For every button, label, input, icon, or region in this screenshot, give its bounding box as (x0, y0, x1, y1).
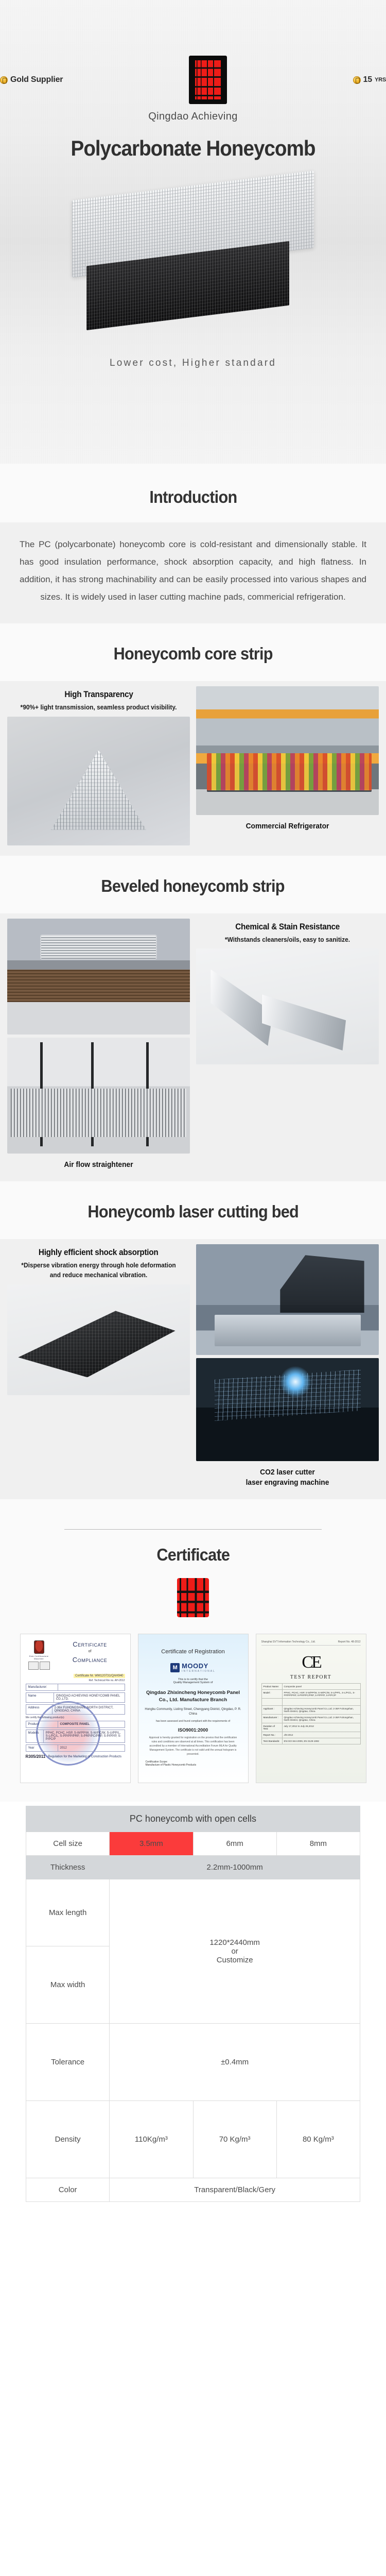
gold-coin-icon (0, 76, 8, 84)
cell-size-option-1[interactable]: 3.5mm (110, 1832, 193, 1856)
max-dims-line1: 1220*2440mm (112, 1938, 358, 1947)
feature-subtitle: *Withstands cleaners/oils, easy to sanit… (205, 935, 370, 945)
air-curtain-photo (7, 919, 190, 1035)
cert3-r0-value: Composite panel (282, 1684, 360, 1690)
cert1-certify-line: We certify the following product(s) (26, 1716, 125, 1719)
laser-machine-photo (196, 1244, 379, 1355)
cert1-row5-value: 2012 (58, 1745, 69, 1751)
cert2-scope: Manufacture of Plastic Honeycomb Product… (144, 1764, 243, 1767)
cert1-issuer: Ente Certificazione Macchine (26, 1655, 52, 1660)
feature-title: High Transparency (64, 689, 133, 700)
cert3-r7-label: Test Standards: (261, 1738, 282, 1744)
cert3-r1-label: Model : (261, 1690, 282, 1699)
ce-test-report-image[interactable]: Shanghai SVT Information Technology Co.,… (256, 1634, 366, 1783)
panel-column-left: Air flow straightener (7, 919, 190, 1171)
company-name: Qingdao Achieving (0, 111, 386, 123)
cert1-row4-label: Model/s (26, 1730, 44, 1742)
section-title: Honeycomb core strip (113, 644, 272, 664)
table-row-color: Color Transparent/Black/Gery (26, 2178, 360, 2202)
cert3-r6-value: J/8-2012 (282, 1732, 360, 1738)
cert1-row3-value: COMPOSITE PANEL (58, 1721, 92, 1727)
cert3-r4-label: Manufacturer : (261, 1715, 282, 1723)
cell-size-option-2[interactable]: 6mm (193, 1832, 276, 1856)
black-honeycomb-block-photo (7, 1284, 190, 1395)
panel-column-right: Commercial Refrigerator (196, 686, 379, 845)
introduction-paragraph: The PC (polycarbonate) honeycomb core is… (20, 536, 366, 606)
cert3-r3-label: Applicant : (261, 1706, 282, 1715)
company-seal-logo (189, 56, 227, 104)
cert2-address: Hongbu Community, Liuting Street, Chengy… (144, 1707, 243, 1717)
cert1-no: WM120731/QAH940 (95, 1674, 123, 1677)
density-value-1: 110Kg/m³ (110, 2101, 193, 2178)
years-number: 15 (363, 75, 372, 84)
cert1-footer-text: Regulation for the Marketing of Construc… (48, 1755, 121, 1758)
row-value-tolerance: ±0.4mm (110, 2024, 360, 2101)
gold-supplier-badge: Gold Supplier (0, 75, 63, 84)
cert3-r6-label: Report No.: (261, 1732, 282, 1738)
cert3-r2-value (282, 1699, 360, 1706)
feature-text-block: Chemical & Stain Resistance *Withstands … (196, 919, 379, 949)
hero-banner: Gold Supplier 15YRS Qingdao Achieving Po… (0, 0, 386, 464)
density-value-3: 80 Kg/m³ (276, 2101, 360, 2178)
introduction-body: The PC (polycarbonate) honeycomb core is… (0, 522, 386, 623)
cert2-intro2: Quality Management System of (144, 1681, 243, 1684)
introduction-heading-block: Introduction (0, 464, 386, 522)
cert3-r5-value: July 17,2012 to July 26,2012 (282, 1723, 360, 1732)
cert1-title-line2: Compliance (55, 1656, 125, 1664)
cert1-ref: Ref. Technical File no. AH-2012 (26, 1679, 125, 1682)
specification-table-wrapper: PC honeycomb with open cells Cell size 3… (0, 1802, 386, 2233)
cert2-standard: ISO9001:2000 (144, 1727, 243, 1733)
row-label-color: Color (26, 2178, 110, 2202)
section-panel-beveled-honeycomb-strip: Air flow straightener Chemical & Stain R… (0, 913, 386, 1181)
max-dims-line2: or (112, 1947, 358, 1956)
cert1-title-line1: Certificate (55, 1640, 125, 1648)
cert2-brand-sub: INTERNATIONAL (182, 1670, 216, 1673)
certificate-gallery: Ente Certificazione Macchine Certificate… (0, 1617, 386, 1802)
cert2-brand: MOODY (182, 1662, 216, 1670)
feature-subtitle: *90%+ light transmission, seamless produ… (16, 702, 181, 713)
cert1-no-label: Certificate Nr. (75, 1674, 94, 1677)
row-label-thickness: Thickness (26, 1856, 110, 1879)
certificate-title: Certificate (156, 1545, 230, 1565)
row-label-max-width: Max width (26, 1946, 110, 2024)
feature-title: Highly efficient shock absorption (39, 1247, 159, 1258)
cert3-r5-label: Duration of Test: (261, 1723, 282, 1732)
hero-tagline: Lower cost, Higher standard (0, 336, 386, 369)
panel-column-left: Highly efficient shock absorption *Dispe… (7, 1244, 190, 1489)
cert3-r3-value: Qingdao Achieving Honeycomb Panel Co.,Lt… (282, 1706, 360, 1715)
section-title: Beveled honeycomb strip (101, 876, 285, 896)
max-dims-line3: Customize (112, 1956, 358, 1964)
feature-text-block: Highly efficient shock absorption *Dispe… (7, 1244, 190, 1284)
cert3-r1-value: PPHC, PCHC, HSP, S-W/PP/W, S-W/PC/W, S-U… (282, 1690, 360, 1699)
introduction-title: Introduction (149, 487, 237, 507)
section-panel-honeycomb-laser-cutting-bed: Highly efficient shock absorption *Dispe… (0, 1239, 386, 1500)
cert3-r2-label (261, 1699, 282, 1706)
table-row-tolerance: Tolerance ±0.4mm (26, 2024, 360, 2101)
spec-table-header: PC honeycomb with open cells (26, 1806, 360, 1832)
section-heading-honeycomb-core-strip: Honeycomb core strip (0, 623, 386, 681)
cert1-footer-code: R305/2011 (26, 1754, 46, 1759)
cert2-company: Qingdao Zhixincheng Honeycomb Panel Co.,… (144, 1689, 243, 1704)
section-heading-beveled-honeycomb-strip: Beveled honeycomb strip (0, 856, 386, 913)
photo-caption-line2: laser engraving machine (205, 1478, 370, 1488)
cert1-row2-label: Address (26, 1705, 52, 1714)
row-value-thickness: 2.2mm-1000mm (110, 1856, 360, 1879)
photo-caption: Air flow straightener (14, 1154, 183, 1171)
certificate-section: Certificate Ente Certificazione Macchine… (0, 1499, 386, 1802)
gold-coin-icon (353, 76, 361, 84)
table-row-density: Density 110Kg/m³ 70 Kg/m³ 80 Kg/m³ (26, 2101, 360, 2178)
company-seal-icon (177, 1578, 209, 1617)
ce-mark-icon: CE (261, 1653, 361, 1672)
seal-ink-art (195, 60, 221, 99)
row-value-max-dimensions: 1220*2440mm or Customize (110, 1879, 360, 2024)
row-label-max-length: Max length (26, 1879, 110, 1946)
cert2-fine-print: Approval is hereby granted for registrat… (144, 1736, 243, 1756)
honeycomb-transparent-photo (7, 717, 190, 845)
table-header-row: PC honeycomb with open cells (26, 1806, 360, 1832)
cert1-row1-value: QINGDAO ACHIEVING HONEYCOMB PANEL CO.,LT… (54, 1693, 125, 1702)
cert1-row1-label: Name (26, 1693, 54, 1702)
cert1-row4-value: PPHC, PCHC, HSP, S-W/PP/W, S-W/PC/W, S-U… (44, 1730, 125, 1742)
commercial-refrigerator-photo (196, 686, 379, 815)
row-label-tolerance: Tolerance (26, 2024, 110, 2101)
certificate-of-registration-image[interactable]: Certificate of Registration M MOODY INTE… (138, 1634, 249, 1783)
years-badge: 15YRS (353, 75, 386, 84)
feature-text-block: High Transparency *90%+ light transmissi… (7, 686, 190, 717)
photo-caption-line1: CO2 laser cutter (205, 1467, 370, 1478)
page-title: Polycarbonate Honeycomb (15, 136, 371, 161)
cert2-heading: Certificate of Registration (144, 1649, 243, 1655)
hero-product-photo (72, 181, 314, 336)
cert3-r0-label: Product Name: (261, 1684, 282, 1690)
feature-title: Chemical & Stain Resistance (235, 922, 340, 932)
certificate-of-compliance-image[interactable]: Ente Certificazione Macchine Certificate… (20, 1634, 131, 1783)
table-row-cell-size: Cell size 3.5mm 6mm 8mm (26, 1832, 360, 1856)
laser-cutting-bed-photo (196, 1358, 379, 1461)
cert3-r7-value: EN ISO 844-2009, EN 3129-1992 (282, 1738, 360, 1744)
section-divider (64, 1529, 322, 1530)
cert3-r4-value: Qingdao Achieving Honeycomb Panel Co.,Lt… (282, 1715, 360, 1723)
beveled-strip-photo (196, 948, 379, 1064)
section-title: Honeycomb laser cutting bed (87, 1202, 299, 1222)
cert1-row0-label: Manufacturer: (26, 1684, 58, 1690)
photo-caption: Commercial Refrigerator (203, 815, 372, 833)
table-row-max-length: Max length 1220*2440mm or Customize (26, 1879, 360, 1946)
cert3-lab: Shanghai SVT Information Technology Co.,… (261, 1640, 315, 1643)
panel-column-right: Chemical & Stain Resistance *Withstands … (196, 919, 379, 1171)
years-unit: YRS (375, 77, 386, 83)
cell-size-option-3[interactable]: 8mm (276, 1832, 360, 1856)
specification-table: PC honeycomb with open cells Cell size 3… (26, 1806, 360, 2202)
cert3-table: Product Name:Composite panel Model :PPHC… (261, 1683, 361, 1744)
air-flow-grating-photo (7, 1038, 190, 1154)
panel-column-right: CO2 laser cutter laser engraving machine (196, 1244, 379, 1489)
cert3-heading: TEST REPORT (261, 1674, 361, 1680)
cert1-title-of: of (55, 1650, 125, 1653)
section-panel-honeycomb-core-strip: High Transparency *90%+ light transmissi… (0, 681, 386, 856)
cert1-row0-value (58, 1684, 62, 1690)
density-value-2: 70 Kg/m³ (193, 2101, 276, 2178)
table-row-thickness: Thickness 2.2mm-1000mm (26, 1856, 360, 1879)
section-heading-honeycomb-laser-cutting-bed: Honeycomb laser cutting bed (0, 1181, 386, 1239)
row-label-density: Density (26, 2101, 110, 2178)
cert3-report-no-top: Report No. 48-2012 (338, 1640, 361, 1643)
cert1-row5-label: Year (26, 1745, 58, 1751)
feature-subtitle: *Disperse vibration energy through hole … (16, 1260, 181, 1280)
gold-supplier-label: Gold Supplier (10, 75, 63, 84)
row-label-cell-size: Cell size (26, 1832, 110, 1856)
supplier-badges: Gold Supplier 15YRS (0, 0, 386, 104)
panel-column-left: High Transparency *90%+ light transmissi… (7, 686, 190, 845)
row-value-color: Transparent/Black/Gery (110, 2178, 360, 2202)
photo-caption: CO2 laser cutter laser engraving machine (203, 1461, 372, 1489)
cert1-row2-value: 2-36# FUHONGSHAN, NORTH DISTRICT, QINGDA… (52, 1705, 125, 1714)
cert1-row3-label: Product (26, 1721, 58, 1727)
cert2-assessed: has been assessed and found compliant wi… (144, 1720, 243, 1723)
